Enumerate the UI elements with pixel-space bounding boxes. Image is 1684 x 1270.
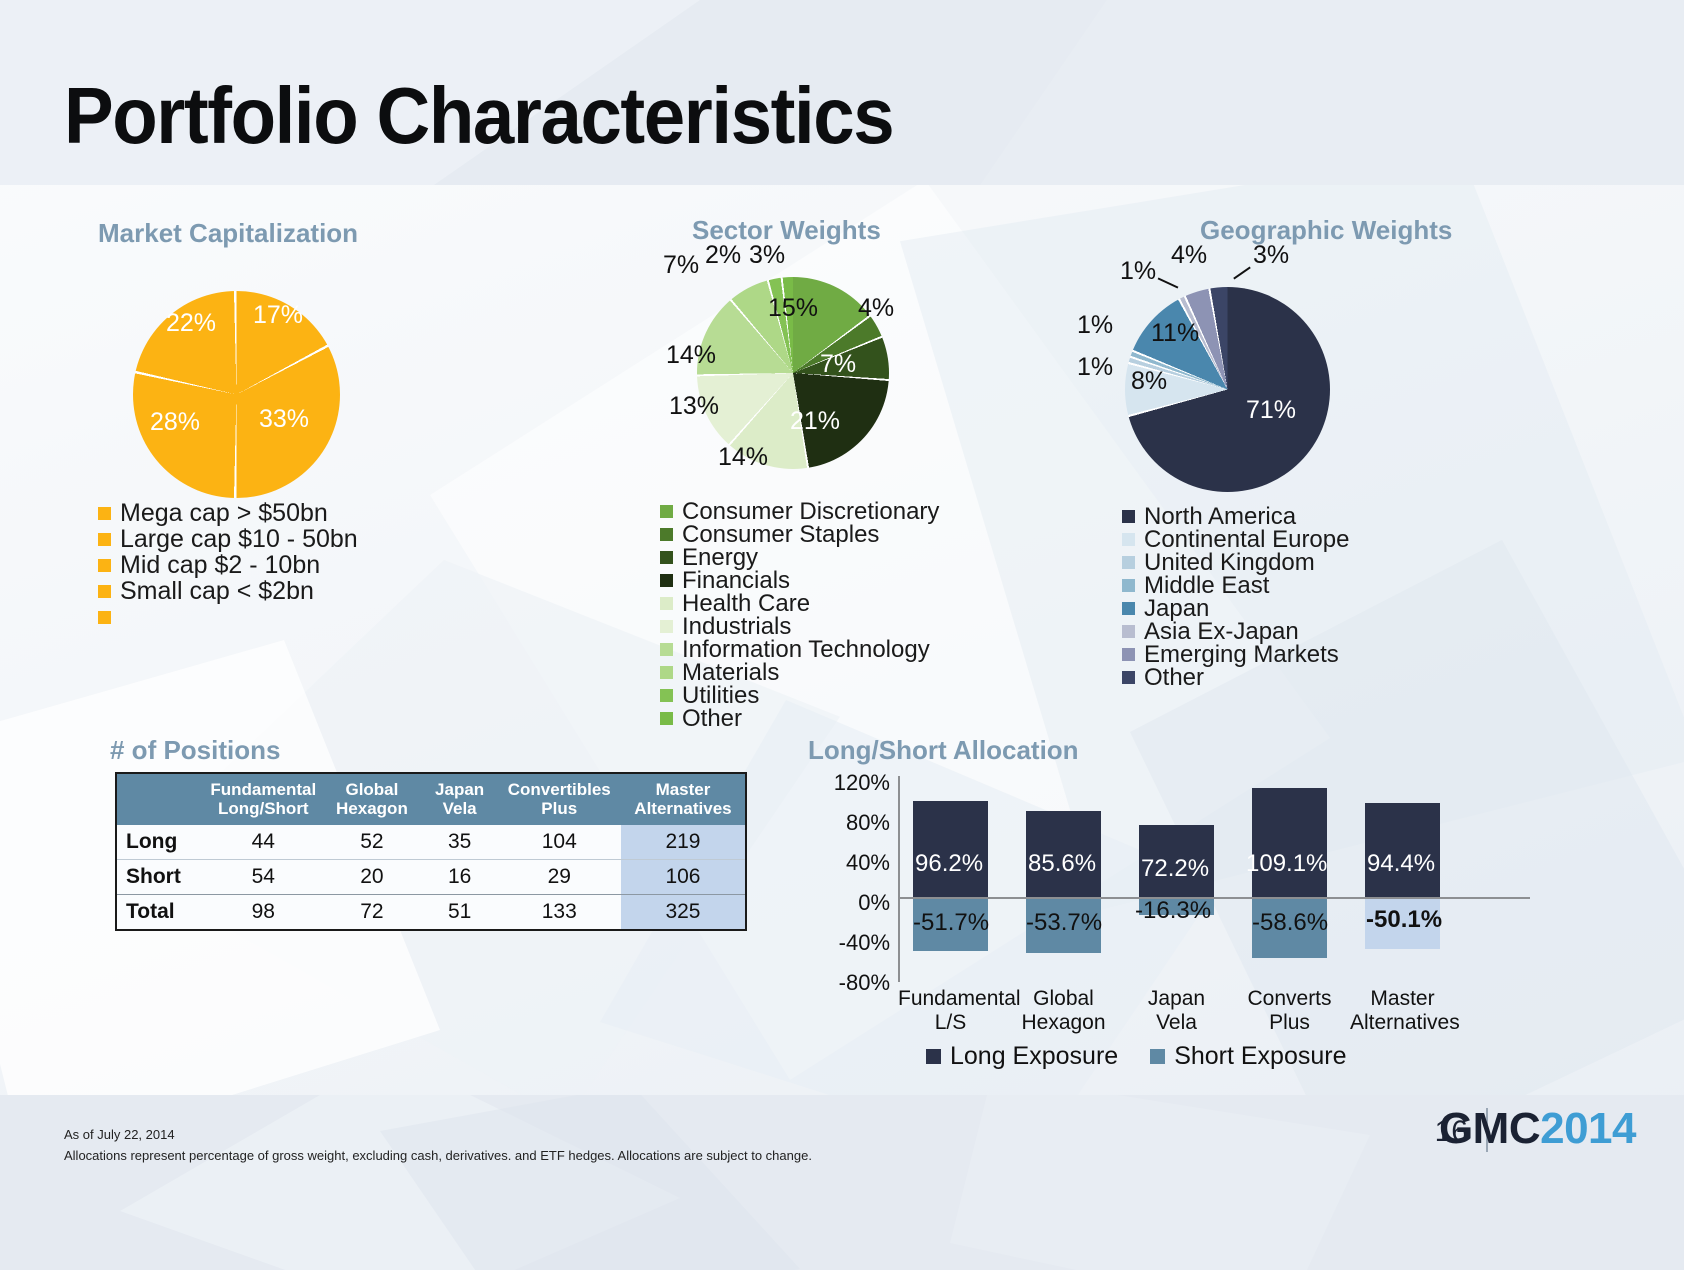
legend-label: Consumer Discretionary: [682, 500, 939, 524]
legend-swatch-icon: [1122, 510, 1135, 523]
cat-line2: Alternatives: [1350, 1011, 1455, 1035]
y-axis-tick-label: 80%: [846, 812, 890, 834]
sector-slice-value: 2%: [705, 243, 741, 268]
table-row: Total 98 72 51 133 325: [116, 895, 746, 931]
legend-label: Energy: [682, 546, 758, 570]
bar-value-label: 109.1%: [1246, 852, 1327, 876]
row-label-short: Short: [116, 860, 204, 895]
legend-swatch-icon: [660, 712, 673, 725]
legend-item: Materials: [660, 661, 939, 684]
col-header-line1: Japan: [426, 780, 494, 799]
legend-swatch-icon: [660, 551, 673, 564]
cell-long-japan-vela: 35: [422, 825, 498, 860]
brand-year: 2014: [1540, 1104, 1636, 1153]
cat-line1: Fundamental: [898, 987, 1003, 1011]
col-header-line2: Alternatives: [625, 799, 741, 818]
bar-long-exposure: [1252, 788, 1327, 897]
legend-item: Continental Europe: [1122, 528, 1349, 551]
y-axis-tick-label: -80%: [839, 972, 890, 994]
legend-item: Short Exposure: [1150, 1042, 1346, 1071]
table-col-fundamental-long-short: Fundamental Long/Short: [204, 773, 322, 825]
cat-line2: Plus: [1237, 1011, 1342, 1035]
legend-label: Utilities: [682, 684, 759, 708]
legend-item: Consumer Staples: [660, 523, 939, 546]
legend-swatch-icon: [660, 597, 673, 610]
sector-slice-value: 13%: [669, 394, 719, 419]
cat-line1: Converts: [1237, 987, 1342, 1011]
legend-item: North America: [1122, 505, 1349, 528]
bar-value-label: -16.3%: [1135, 899, 1211, 923]
legend-item: Mega cap > $50bn: [98, 500, 358, 526]
legend-item: Financials: [660, 569, 939, 592]
col-header-line1: Convertibles: [502, 780, 617, 799]
brand-name: GMC: [1439, 1104, 1540, 1153]
market-cap-slice-value: 17%: [253, 303, 303, 328]
market-cap-slice-value: 22%: [166, 311, 216, 336]
legend-label: Emerging Markets: [1144, 643, 1339, 667]
sector-slice-value: 15%: [768, 296, 818, 321]
geographic-weights-heading: Geographic Weights: [1200, 215, 1452, 246]
cat-line2: Hexagon: [1011, 1011, 1116, 1035]
bar-value-label: -51.7%: [913, 911, 989, 935]
geo-slice-value: 1%: [1077, 355, 1113, 380]
x-axis-category-label: Master Alternatives: [1350, 987, 1455, 1036]
col-header-line1: Master: [625, 780, 741, 799]
bar-value-label: 72.2%: [1141, 857, 1209, 881]
legend-swatch-icon: [98, 507, 111, 520]
positions-table: Fundamental Long/Short Global Hexagon Ja…: [115, 772, 747, 931]
cat-line2: L/S: [898, 1011, 1003, 1035]
legend-item: [98, 604, 358, 630]
brand-logo: GMC2014: [1439, 1104, 1636, 1154]
row-label-total: Total: [116, 895, 204, 931]
legend-label: Japan: [1144, 597, 1209, 621]
col-header-line2: Plus: [502, 799, 617, 818]
bar-value-label: -50.1%: [1366, 908, 1442, 932]
legend-item: Emerging Markets: [1122, 643, 1349, 666]
bar-value-label: 85.6%: [1028, 852, 1096, 876]
cell-long-convertibles: 104: [498, 825, 621, 860]
cat-line1: Global: [1011, 987, 1116, 1011]
bar-value-label: 94.4%: [1367, 852, 1435, 876]
legend-label: Small cap < $2bn: [120, 579, 314, 604]
legend-label: Short Exposure: [1174, 1042, 1346, 1071]
legend-swatch-icon: [1122, 602, 1135, 615]
legend-label: Asia Ex-Japan: [1144, 620, 1299, 644]
col-header-line2: Vela: [426, 799, 494, 818]
cat-line1: Japan: [1124, 987, 1229, 1011]
legend-item: Mid cap $2 - 10bn: [98, 552, 358, 578]
legend-label: North America: [1144, 505, 1296, 529]
legend-swatch-icon: [1150, 1049, 1165, 1064]
legend-label: Other: [1144, 666, 1204, 690]
cell-total-master-alternatives: 325: [621, 895, 746, 931]
bar-value-label: -58.6%: [1252, 911, 1328, 935]
cell-short-master-alternatives: 106: [621, 860, 746, 895]
sector-weights-legend: Consumer Discretionary Consumer Staples …: [660, 500, 939, 730]
long-short-bar-chart: 120% 80% 40% 0% -40% -80% 96.2% -51.7% 8…: [800, 770, 1560, 1070]
legend-label: Financials: [682, 569, 790, 593]
long-short-heading: Long/Short Allocation: [808, 735, 1079, 766]
x-axis-category-label: Japan Vela: [1124, 987, 1229, 1036]
col-header-line1: Global: [326, 780, 417, 799]
slide-canvas: Portfolio Characteristics Market Capital…: [0, 0, 1684, 1270]
legend-label: Middle East: [1144, 574, 1269, 598]
market-cap-heading: Market Capitalization: [98, 218, 358, 249]
geographic-weights-legend: North America Continental Europe United …: [1122, 505, 1349, 689]
cell-total-japan-vela: 51: [422, 895, 498, 931]
geo-slice-value: 3%: [1253, 243, 1289, 268]
x-axis-category-label: Global Hexagon: [1011, 987, 1116, 1036]
bar-value-label: 96.2%: [915, 852, 983, 876]
table-col-master-alternatives: Master Alternatives: [621, 773, 746, 825]
sector-slice-value: 21%: [790, 409, 840, 434]
legend-label: Consumer Staples: [682, 523, 879, 547]
long-short-legend: Long Exposure Short Exposure: [926, 1042, 1347, 1071]
geo-slice-value: 1%: [1077, 313, 1113, 338]
header-facet: [980, 0, 1684, 185]
y-axis-tick-label: 120%: [834, 772, 890, 794]
legend-swatch-icon: [660, 689, 673, 702]
legend-swatch-icon: [660, 666, 673, 679]
legend-label: Continental Europe: [1144, 528, 1349, 552]
geo-slice-value: 11%: [1151, 321, 1199, 346]
legend-item: Other: [1122, 666, 1349, 689]
legend-item: United Kingdom: [1122, 551, 1349, 574]
table-row: Short 54 20 16 29 106: [116, 860, 746, 895]
col-header-line2: Long/Short: [208, 799, 318, 818]
market-cap-legend: Mega cap > $50bn Large cap $10 - 50bn Mi…: [98, 500, 358, 630]
table-row: Long 44 52 35 104 219: [116, 825, 746, 860]
legend-label: Long Exposure: [950, 1042, 1118, 1071]
sector-slice-value: 14%: [666, 343, 716, 368]
legend-swatch-icon: [660, 574, 673, 587]
legend-item: Middle East: [1122, 574, 1349, 597]
legend-label: Mid cap $2 - 10bn: [120, 553, 320, 578]
table-col-blank: [116, 773, 204, 825]
sector-slice-value: 7%: [820, 352, 856, 377]
legend-label: Health Care: [682, 592, 810, 616]
y-axis-tick-label: -40%: [839, 932, 890, 954]
positions-heading: # of Positions: [110, 735, 280, 766]
footnote-disclaimer: Allocations represent percentage of gros…: [64, 1148, 812, 1164]
legend-item: Japan: [1122, 597, 1349, 620]
legend-swatch-icon: [1122, 533, 1135, 546]
footnote-as-of-date: As of July 22, 2014: [64, 1127, 175, 1143]
cat-line1: Master: [1350, 987, 1455, 1011]
y-axis-tick-label: 40%: [846, 852, 890, 874]
cat-line2: Vela: [1124, 1011, 1229, 1035]
x-axis-category-label: Converts Plus: [1237, 987, 1342, 1036]
legend-swatch-icon: [98, 559, 111, 572]
legend-swatch-icon: [660, 643, 673, 656]
cell-short-fundamental: 54: [204, 860, 322, 895]
col-header-line1: Fundamental: [208, 780, 318, 799]
row-label-long: Long: [116, 825, 204, 860]
cell-total-fundamental: 98: [204, 895, 322, 931]
legend-swatch-icon: [660, 505, 673, 518]
table-col-japan-vela: Japan Vela: [422, 773, 498, 825]
geo-slice-value: 71%: [1246, 398, 1296, 423]
page-title: Portfolio Characteristics: [64, 76, 893, 156]
market-cap-slice-value: 33%: [259, 407, 309, 432]
legend-swatch-icon: [1122, 648, 1135, 661]
legend-label: Large cap $10 - 50bn: [120, 527, 358, 552]
table-col-global-hexagon: Global Hexagon: [322, 773, 421, 825]
legend-item: Consumer Discretionary: [660, 500, 939, 523]
x-axis-category-label: Fundamental L/S: [898, 987, 1003, 1036]
legend-item: Utilities: [660, 684, 939, 707]
footer-band: [0, 1095, 1684, 1270]
legend-label: Mega cap > $50bn: [120, 501, 328, 526]
cell-long-fundamental: 44: [204, 825, 322, 860]
cell-long-master-alternatives: 219: [621, 825, 746, 860]
cell-short-convertibles: 29: [498, 860, 621, 895]
sector-slice-value: 3%: [749, 243, 785, 268]
market-cap-pie-chart: [133, 291, 340, 498]
legend-item: Asia Ex-Japan: [1122, 620, 1349, 643]
legend-swatch-icon: [1122, 671, 1135, 684]
legend-item: Long Exposure: [926, 1042, 1118, 1071]
legend-item: Health Care: [660, 592, 939, 615]
legend-label: Materials: [682, 661, 779, 685]
legend-swatch-icon: [660, 620, 673, 633]
cell-short-japan-vela: 16: [422, 860, 498, 895]
cell-total-global-hexagon: 72: [322, 895, 421, 931]
legend-label: Industrials: [682, 615, 791, 639]
legend-item: Information Technology: [660, 638, 939, 661]
legend-swatch-icon: [926, 1049, 941, 1064]
legend-item: Other: [660, 707, 939, 730]
col-header-line2: Hexagon: [326, 799, 417, 818]
sector-slice-value: 14%: [718, 445, 768, 470]
legend-item: Energy: [660, 546, 939, 569]
geo-slice-value: 1%: [1120, 259, 1156, 284]
legend-label: United Kingdom: [1144, 551, 1315, 575]
market-cap-slice-value: 28%: [150, 410, 200, 435]
bar-value-label: -53.7%: [1026, 911, 1102, 935]
y-axis-line: [898, 776, 900, 982]
table-col-convertibles-plus: Convertibles Plus: [498, 773, 621, 825]
geo-slice-value: 8%: [1131, 369, 1167, 394]
sector-slice-value: 4%: [858, 296, 894, 321]
legend-swatch-icon: [660, 528, 673, 541]
legend-label: Other: [682, 707, 742, 731]
geo-slice-value: 4%: [1171, 243, 1207, 268]
y-axis-tick-label: 0%: [858, 892, 890, 914]
legend-swatch-icon: [98, 585, 111, 598]
legend-item: Industrials: [660, 615, 939, 638]
table-header-row: Fundamental Long/Short Global Hexagon Ja…: [116, 773, 746, 825]
footer-facet: [950, 1095, 1370, 1270]
cell-long-global-hexagon: 52: [322, 825, 421, 860]
legend-item: Small cap < $2bn: [98, 578, 358, 604]
legend-swatch-icon: [1122, 625, 1135, 638]
legend-swatch-icon: [1122, 579, 1135, 592]
bar-long-exposure: [913, 801, 988, 897]
sector-slice-value: 7%: [663, 253, 699, 278]
legend-item: Large cap $10 - 50bn: [98, 526, 358, 552]
cell-total-convertibles: 133: [498, 895, 621, 931]
legend-swatch-icon: [98, 611, 111, 624]
legend-swatch-icon: [98, 533, 111, 546]
legend-label: Information Technology: [682, 638, 930, 662]
legend-swatch-icon: [1122, 556, 1135, 569]
cell-short-global-hexagon: 20: [322, 860, 421, 895]
